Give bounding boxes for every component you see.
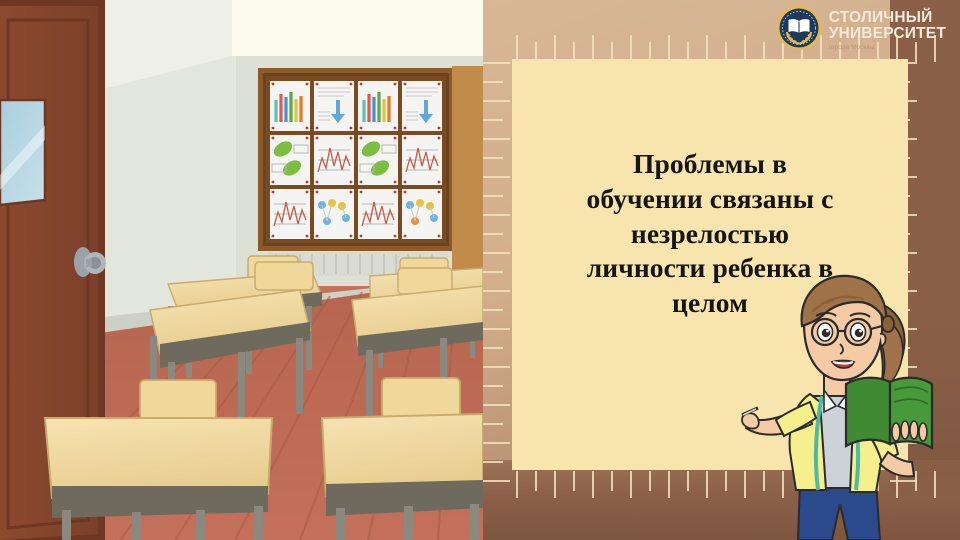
ruler-tick [668,471,670,498]
ruler-tick [592,471,594,498]
ruler-tick [516,471,518,498]
ruler-tick [706,35,708,62]
ruler-tick [706,471,708,498]
ruler-tick [630,471,632,498]
ruler-tick [483,176,510,178]
ruler-tick [573,471,575,491]
ruler-tick [483,233,503,235]
ruler-tick [483,328,510,330]
bulletin-board [258,66,483,278]
classroom-svg [0,0,483,540]
ruler-tick [516,35,518,62]
ruler-tick [483,423,503,425]
ruler-tick [483,480,510,482]
ruler-tick [483,366,510,368]
ruler-tick [483,119,503,121]
ruler-tick [483,271,503,273]
ruler-tick [483,252,510,254]
ruler-tick [483,290,510,292]
ruler-tick [554,471,556,498]
ruler-tick [483,385,503,387]
ruler-tick [744,35,746,62]
university-logo: СТОЛИЧНЫЙ УНИВЕРСИТЕТ города Москвы [776,5,946,51]
brand-line-1: СТОЛИЧНЫЙ [829,10,946,26]
open-book-laurel-emblem [776,5,822,51]
ruler-tick [483,157,503,159]
ruler-tick [483,214,510,216]
ruler-tick [668,35,670,62]
brand-subtitle: города Москвы [829,44,946,51]
ruler-tick [483,100,510,102]
ruler-tick [592,35,594,62]
ruler-tick [483,442,510,444]
slide-panel: Проблемы вобучении связаны снезрелостьюл… [483,0,960,540]
female-teacher-pointing [740,272,936,540]
ruler-tick [687,471,689,491]
ruler-tick [483,347,503,349]
ruler-tick [483,195,503,197]
ruler-tick [483,404,510,406]
brand-line-2: УНИВЕРСИТЕТ [829,26,946,42]
slide-canvas: Проблемы вобучении связаны снезрелостьюл… [0,0,960,540]
ruler-tick [611,471,613,491]
brand-text-block: СТОЛИЧНЫЙ УНИВЕРСИТЕТ города Москвы [829,5,946,51]
ruler-tick [649,471,651,491]
ruler-tick [554,35,556,62]
ruler-tick [483,309,503,311]
classroom-illustration [0,0,483,540]
ruler-tick [483,138,510,140]
ruler-tick [483,461,503,463]
ruler-tick [630,35,632,62]
ruler-tick [483,81,503,83]
ruler-tick [535,471,537,491]
ruler-tick [725,471,727,491]
ruler-tick [483,62,510,64]
